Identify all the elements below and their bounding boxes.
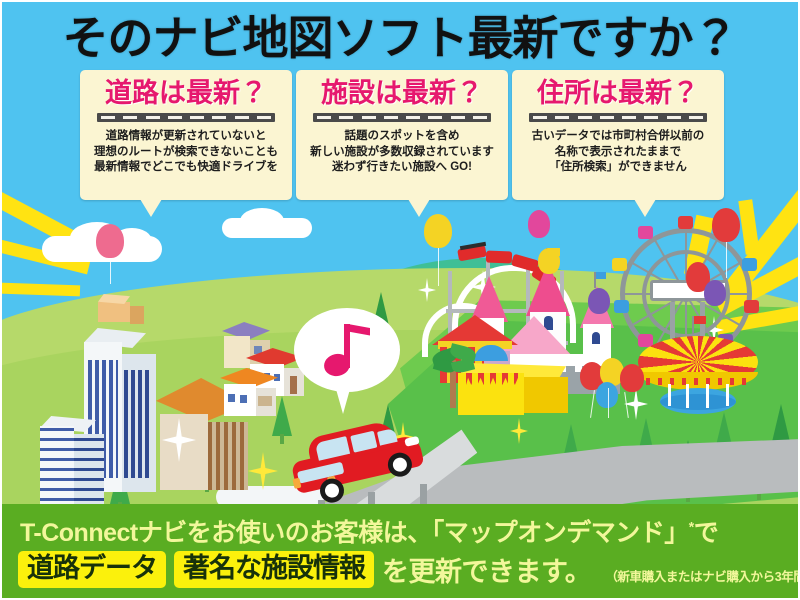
banner-line-2: 道路データ 著名な施設情報 を更新できます。 （新車購入またはナビ購入から3年間… <box>18 550 800 589</box>
callout-tail <box>140 199 162 217</box>
balloon-icon <box>588 288 610 314</box>
bottom-banner: T-Connectナビをお使いのお客様は、「マップオンデマンド」*で 道路データ… <box>0 504 800 600</box>
banner-line-1: T-Connectナビをお使いのお客様は、「マップオンデマンド」*で <box>20 513 718 549</box>
callout-facility-body: 話題のスポットを含め 新しい施設が多数収録されています 迷わず行きたい施設へ G… <box>296 129 508 176</box>
callout-address-line-2: 名称で表示されたままで <box>512 145 724 161</box>
banner-line-1-tail: で <box>694 519 719 547</box>
tag-facility-info: 著名な施設情報 <box>174 551 374 588</box>
building-icon <box>40 416 116 512</box>
callout-facility-line-2: 新しい施設が多数収録されています <box>296 145 508 161</box>
callout-address-line-3: 「住所検索」ができません <box>512 160 724 176</box>
music-note-bubble-tail <box>334 382 352 414</box>
callout-address-title: 住所は最新？ <box>512 77 724 109</box>
carousel-icon <box>638 330 768 420</box>
house-icon <box>218 368 280 420</box>
balloon-string <box>110 258 111 284</box>
callout-road-body: 道路情報が更新されていないと 理想のルートが検索できないことも 最新情報でどこで… <box>80 129 292 176</box>
page-title: そのナビ地図ソフト最新ですか？ <box>0 10 800 66</box>
callout-road-line-2: 理想のルートが検索できないことも <box>80 145 292 161</box>
balloon-string <box>608 388 609 418</box>
balloon-string <box>726 242 727 278</box>
callout-road: 道路は最新？ 道路情報が更新されていないと 理想のルートが検索できないことも 最… <box>80 70 292 200</box>
poster: そのナビ地図ソフト最新ですか？ 道路は最新？ 道路情報が更新されていないと 理想… <box>0 0 800 600</box>
callout-facility-title: 施設は最新？ <box>296 77 508 109</box>
banner-line-1-text: T-Connectナビをお使いのお客様は、「マップオンデマンド」 <box>20 519 689 547</box>
callout-address-body: 古いデータでは市町村合併以前の 名称で表示されたままで 「住所検索」ができません <box>512 129 724 176</box>
callout-facility: 施設は最新？ 話題のスポットを含め 新しい施設が多数収録されています 迷わず行き… <box>296 70 508 200</box>
palm-tree-icon <box>432 342 478 408</box>
road-divider-icon <box>97 113 275 122</box>
road-divider-icon <box>529 113 707 122</box>
callout-facility-line-3: 迷わず行きたい施設へ GO! <box>296 160 508 176</box>
callout-road-title: 道路は最新？ <box>80 77 292 109</box>
road-divider-icon <box>313 113 491 122</box>
balloon-string <box>438 248 439 286</box>
balloon-icon <box>704 280 726 306</box>
callout-road-line-3: 最新情報でどこでも快適ドライブを <box>80 160 292 176</box>
music-note-icon <box>322 324 370 378</box>
callout-address-line-1: 古いデータでは市町村合併以前の <box>512 129 724 145</box>
callout-group: 道路は最新？ 道路情報が更新されていないと 理想のルートが検索できないことも 最… <box>0 70 800 230</box>
callout-facility-line-1: 話題のスポットを含め <box>296 129 508 145</box>
balloon-icon <box>538 248 560 274</box>
callout-tail <box>634 199 656 217</box>
banner-note: （新車購入またはナビ購入から3年間無料） <box>605 566 800 585</box>
callout-road-line-1: 道路情報が更新されていないと <box>80 129 292 145</box>
tag-road-data: 道路データ <box>18 551 166 588</box>
balloon-icon <box>620 364 644 392</box>
banner-suffix: を更新できます。 <box>382 550 591 589</box>
callout-address: 住所は最新？ 古いデータでは市町村合併以前の 名称で表示されたままで 「住所検索… <box>512 70 724 200</box>
callout-tail <box>408 199 430 217</box>
balloon-icon <box>596 382 618 408</box>
